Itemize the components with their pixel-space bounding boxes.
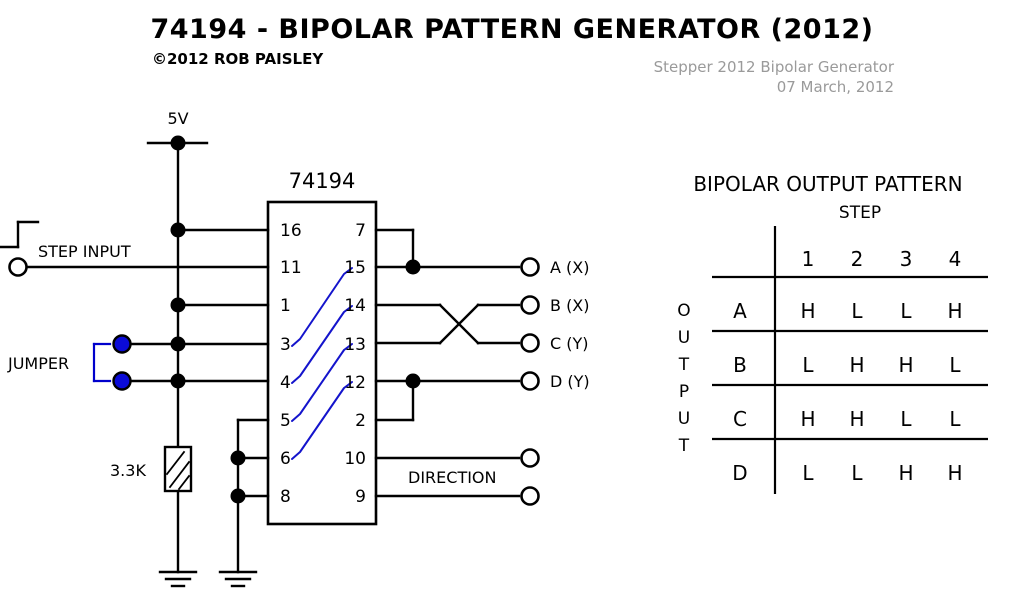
table-column-headers: 1 2 3 4 [802,247,962,271]
step-input-waveform-icon [0,222,38,247]
table-cell-a-4: H [947,299,962,323]
table-cell-d-2: L [851,461,863,485]
table-cell-c-3: L [900,407,912,431]
step-input-label: STEP INPUT [38,242,131,261]
pin-number-5: 5 [280,411,291,431]
output-label-a: A (X) [550,258,589,277]
pin-number-2: 2 [355,411,366,431]
jumper-link-wire[interactable] [94,344,110,381]
schematic-page: 74194 - BIPOLAR PATTERN GENERATOR (2012)… [0,0,1024,600]
circuit-schematic: 5V 74194 16 11 1 3 4 5 6 8 7 15 14 13 12… [0,0,1024,600]
ic-right-pin-wires [376,230,519,496]
svg-text:U: U [678,328,690,348]
terminal-output-d[interactable] [522,373,539,390]
table-cell-a-1: H [800,299,815,323]
terminal-direction-bottom[interactable] [522,488,539,505]
terminal-output-c[interactable] [522,335,539,352]
pin-number-12: 12 [344,373,366,393]
output-labels: A (X) B (X) C (Y) D (Y) [550,258,590,391]
pin-number-9: 9 [355,487,366,507]
output-label-d: D (Y) [550,372,590,391]
output-label-b: B (X) [550,296,590,315]
jumper-terminal-bottom[interactable] [114,373,131,390]
pin-number-3: 3 [280,335,291,355]
power-rail-label: 5V [167,109,188,128]
table-cell-d-3: H [898,461,913,485]
terminal-direction-top[interactable] [522,450,539,467]
pin-number-10: 10 [344,449,366,469]
terminal-output-b[interactable] [522,297,539,314]
ic-part-number: 74194 [289,169,356,193]
table-col-header-4: 4 [949,247,962,271]
pin-number-16: 16 [280,221,302,241]
pin-number-6: 6 [280,449,291,469]
table-row-label-a: A [733,299,747,323]
table-row-label-d: D [732,461,747,485]
svg-text:T: T [678,355,690,375]
bipolar-output-pattern-table: BIPOLAR OUTPUT PATTERN STEP 1 2 3 4 O U … [677,172,988,494]
svg-text:O: O [677,301,690,321]
table-column-group-label: STEP [839,203,881,223]
resistor-value-label: 3.3K [110,461,146,480]
ic-body [268,202,376,524]
pin-number-15: 15 [344,258,366,278]
terminal-output-a[interactable] [522,259,539,276]
pin-number-7: 7 [355,221,366,241]
table-col-header-3: 3 [900,247,913,271]
table-cell-b-4: L [949,353,961,377]
ground-symbol-resistor [160,572,196,586]
table-title: BIPOLAR OUTPUT PATTERN [693,172,962,196]
table-cell-c-1: H [800,407,815,431]
table-row-label-b: B [733,353,747,377]
direction-label: DIRECTION [408,468,497,487]
terminal-step-input[interactable] [10,259,27,276]
jumper-label: JUMPER [7,354,69,373]
table-cell-c-4: L [949,407,961,431]
pin-number-11: 11 [280,258,302,278]
table-cell-b-1: L [802,353,814,377]
pin-number-8: 8 [280,487,291,507]
output-label-c: C (Y) [550,334,589,353]
table-cell-a-2: L [851,299,863,323]
ground-symbol-ic [220,572,256,586]
table-col-header-1: 1 [802,247,815,271]
table-cell-a-3: L [900,299,912,323]
jumper-terminals[interactable] [114,336,131,390]
table-row-label-c: C [733,407,747,431]
jumper-terminal-top[interactable] [114,336,131,353]
table-cell-b-3: H [898,353,913,377]
table-row-labels: A B C D [732,299,747,485]
pin-number-13: 13 [344,335,366,355]
pin-number-1: 1 [280,296,291,316]
resistor-body [165,447,191,491]
table-row-group-label: O U T P U T [677,301,690,456]
table-cell-d-4: H [947,461,962,485]
pin-number-14: 14 [344,296,366,316]
table-cell-c-2: H [849,407,864,431]
table-col-header-2: 2 [851,247,864,271]
svg-text:T: T [678,436,690,456]
pin-number-4: 4 [280,373,291,393]
table-cell-b-2: H [849,353,864,377]
svg-text:P: P [679,382,689,402]
svg-text:U: U [678,409,690,429]
table-cell-d-1: L [802,461,814,485]
table-cells: H L L H L H H L H H L L L L H H [800,299,962,485]
